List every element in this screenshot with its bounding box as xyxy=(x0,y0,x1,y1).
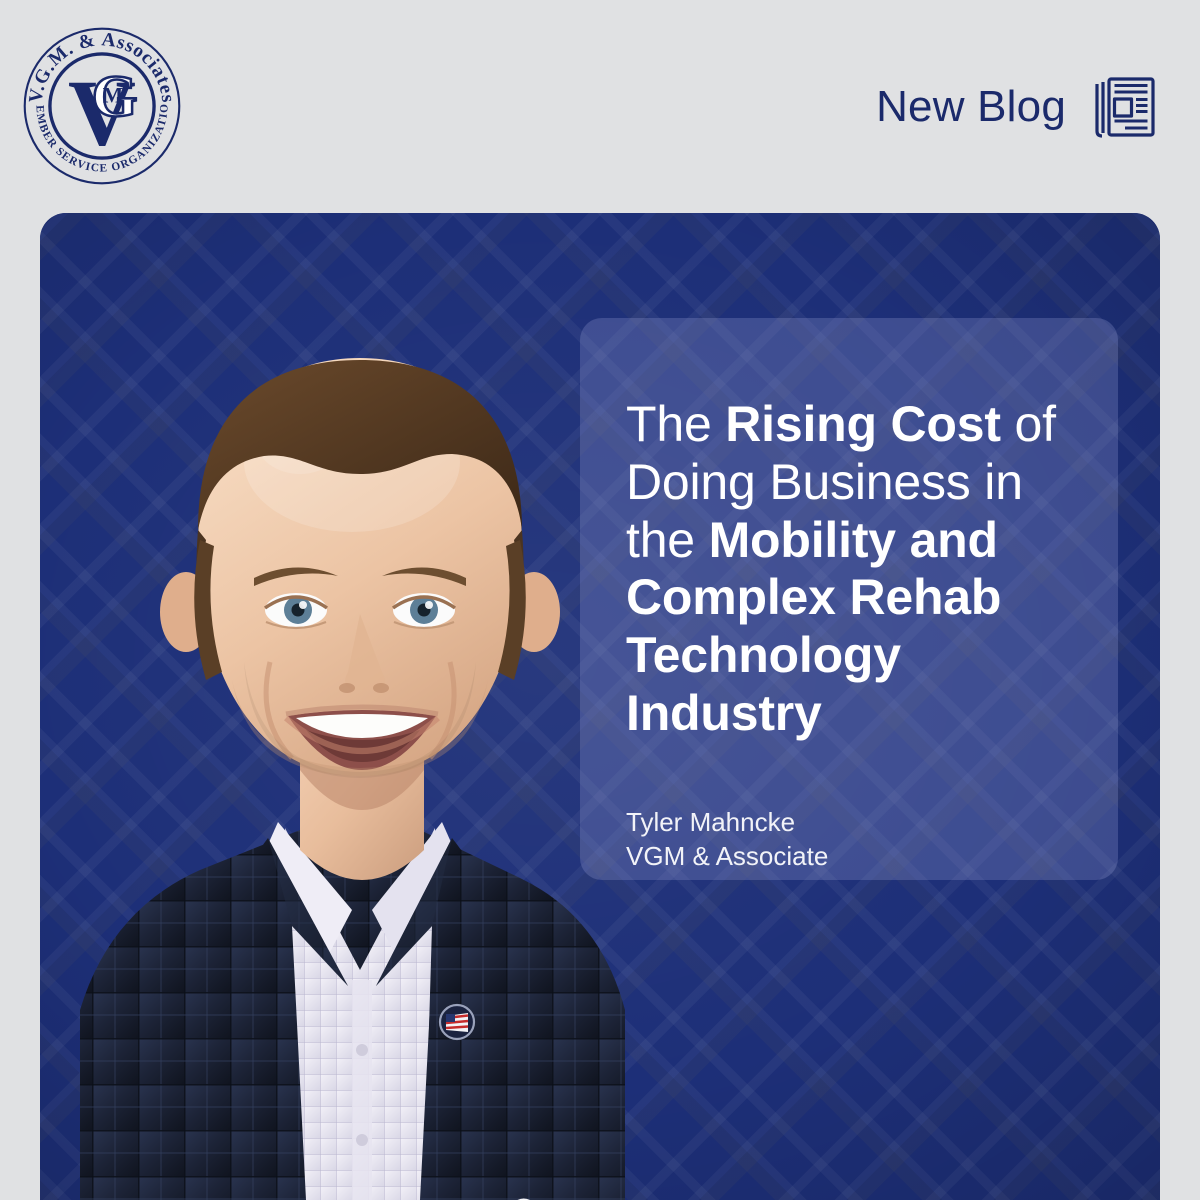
author-org: VGM & Associate xyxy=(626,839,1072,874)
author-name: Tyler Mahncke xyxy=(626,805,1072,840)
blog-promo-card: The Rising Cost of Doing Business in the… xyxy=(40,213,1160,1200)
new-blog-label: New Blog xyxy=(876,85,1066,129)
content-panel: The Rising Cost of Doing Business in the… xyxy=(580,318,1118,880)
vgm-seal-logo[interactable]: V.G.M. & Associates · MEMBER SERVICE ORG… xyxy=(18,22,186,190)
page-header: V.G.M. & Associates · MEMBER SERVICE ORG… xyxy=(0,0,1200,213)
svg-text:M: M xyxy=(103,84,124,108)
author-block: Tyler Mahncke VGM & Associate xyxy=(626,805,1072,874)
newspaper-icon xyxy=(1088,74,1158,140)
blog-title: The Rising Cost of Doing Business in the… xyxy=(626,396,1072,743)
new-blog-badge[interactable]: New Blog xyxy=(876,74,1158,140)
